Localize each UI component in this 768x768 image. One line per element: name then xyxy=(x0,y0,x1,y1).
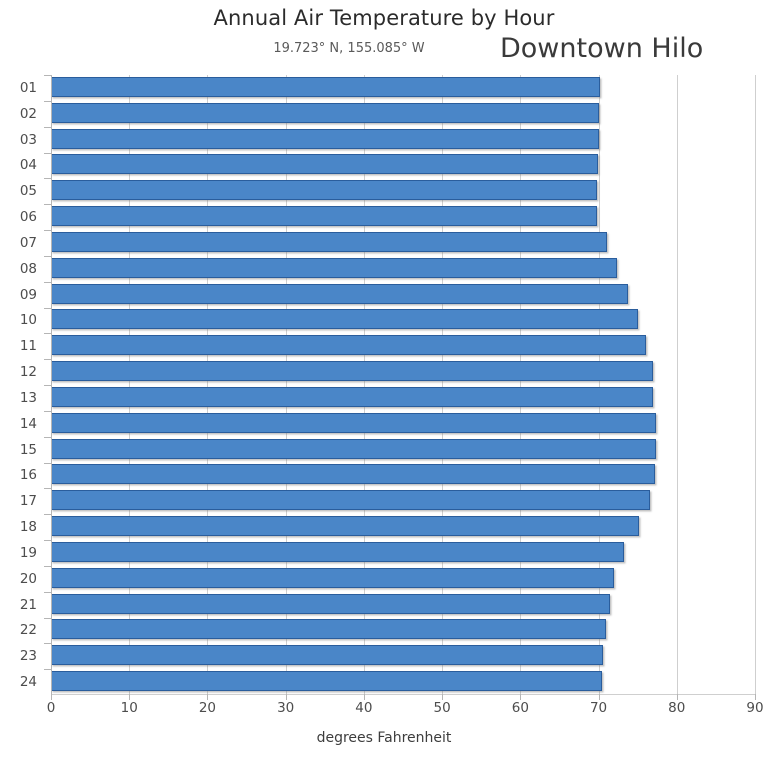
y-tick-15 xyxy=(44,437,51,438)
x-tick-80 xyxy=(677,694,678,700)
x-axis-line xyxy=(51,694,755,695)
bar-08[interactable] xyxy=(51,258,617,278)
x-tick-label-20: 20 xyxy=(199,700,216,716)
y-tick-label-10: 10 xyxy=(20,312,37,328)
y-tick-label-21: 21 xyxy=(20,597,37,613)
bar-row xyxy=(51,437,755,463)
y-tick-18 xyxy=(44,514,51,515)
bar-row xyxy=(51,308,755,334)
y-tick-label-13: 13 xyxy=(20,390,37,406)
bar-row xyxy=(51,592,755,618)
x-tick-90 xyxy=(755,694,756,700)
bar-row xyxy=(51,204,755,230)
y-tick-label-18: 18 xyxy=(20,519,37,535)
y-tick-label-02: 02 xyxy=(20,106,37,122)
bar-19[interactable] xyxy=(51,542,624,562)
y-axis-line xyxy=(51,75,52,695)
x-tick-60 xyxy=(520,694,521,700)
x-tick-30 xyxy=(286,694,287,700)
bar-06[interactable] xyxy=(51,206,597,226)
bar-02[interactable] xyxy=(51,103,599,123)
y-tick-03 xyxy=(44,127,51,128)
x-tick-label-70: 70 xyxy=(590,700,607,716)
bar-22[interactable] xyxy=(51,619,606,639)
x-tick-label-40: 40 xyxy=(355,700,372,716)
bar-row xyxy=(51,178,755,204)
bar-row xyxy=(51,411,755,437)
bar-20[interactable] xyxy=(51,568,614,588)
y-tick-11 xyxy=(44,333,51,334)
bar-row xyxy=(51,282,755,308)
x-axis-title: degrees Fahrenheit xyxy=(0,730,768,746)
bar-04[interactable] xyxy=(51,154,598,174)
chart-page: Annual Air Temperature by Hour 19.723° N… xyxy=(0,0,768,768)
x-tick-50 xyxy=(442,694,443,700)
bar-row xyxy=(51,669,755,695)
bar-09[interactable] xyxy=(51,284,628,304)
page-title: Annual Air Temperature by Hour xyxy=(0,6,768,30)
y-tick-04 xyxy=(44,153,51,154)
bar-14[interactable] xyxy=(51,413,656,433)
y-tick-20 xyxy=(44,566,51,567)
y-tick-label-08: 08 xyxy=(20,261,37,277)
bar-row xyxy=(51,359,755,385)
plot-area xyxy=(51,75,755,695)
bar-row xyxy=(51,488,755,514)
y-tick-14 xyxy=(44,411,51,412)
y-tick-21 xyxy=(44,592,51,593)
bar-row xyxy=(51,463,755,489)
x-tick-40 xyxy=(364,694,365,700)
y-tick-label-16: 16 xyxy=(20,467,37,483)
bar-13[interactable] xyxy=(51,387,653,407)
gridline-90 xyxy=(755,75,756,695)
y-tick-label-14: 14 xyxy=(20,416,37,432)
y-tick-label-17: 17 xyxy=(20,493,37,509)
bar-row xyxy=(51,643,755,669)
bar-row xyxy=(51,566,755,592)
bar-10[interactable] xyxy=(51,309,638,329)
x-tick-10 xyxy=(129,694,130,700)
bar-row xyxy=(51,618,755,644)
y-tick-08 xyxy=(44,256,51,257)
x-tick-0 xyxy=(51,694,52,700)
bar-18[interactable] xyxy=(51,516,639,536)
y-tick-label-19: 19 xyxy=(20,545,37,561)
y-tick-07 xyxy=(44,230,51,231)
x-axis-tick-labels: 0102030405060708090 xyxy=(0,700,768,724)
bar-16[interactable] xyxy=(51,464,655,484)
y-tick-22 xyxy=(44,618,51,619)
y-tick-06 xyxy=(44,204,51,205)
bar-row xyxy=(51,514,755,540)
bar-07[interactable] xyxy=(51,232,607,252)
bar-row xyxy=(51,540,755,566)
y-tick-label-05: 05 xyxy=(20,183,37,199)
y-tick-23 xyxy=(44,643,51,644)
x-tick-label-90: 90 xyxy=(746,700,763,716)
x-tick-20 xyxy=(207,694,208,700)
y-tick-label-07: 07 xyxy=(20,235,37,251)
bar-12[interactable] xyxy=(51,361,653,381)
bar-17[interactable] xyxy=(51,490,650,510)
bar-row xyxy=(51,256,755,282)
bar-row xyxy=(51,75,755,101)
station-name-annotation: Downtown Hilo xyxy=(500,33,703,64)
y-tick-01 xyxy=(44,75,51,76)
bar-row xyxy=(51,127,755,153)
y-tick-label-24: 24 xyxy=(20,674,37,690)
bar-23[interactable] xyxy=(51,645,603,665)
bar-01[interactable] xyxy=(51,77,600,97)
bar-03[interactable] xyxy=(51,129,599,149)
y-tick-label-03: 03 xyxy=(20,132,37,148)
x-tick-70 xyxy=(599,694,600,700)
y-tick-label-11: 11 xyxy=(20,338,37,354)
bar-24[interactable] xyxy=(51,671,602,691)
x-tick-label-0: 0 xyxy=(47,700,56,716)
bar-row xyxy=(51,101,755,127)
y-axis-tick-labels: 0102030405060708091011121314151617181920… xyxy=(0,75,51,695)
y-tick-label-09: 09 xyxy=(20,287,37,303)
x-tick-label-30: 30 xyxy=(277,700,294,716)
y-tick-17 xyxy=(44,488,51,489)
y-tick-label-12: 12 xyxy=(20,364,37,380)
y-tick-12 xyxy=(44,359,51,360)
y-tick-label-01: 01 xyxy=(20,80,37,96)
y-tick-09 xyxy=(44,282,51,283)
y-tick-label-22: 22 xyxy=(20,622,37,638)
x-tick-label-80: 80 xyxy=(668,700,685,716)
y-tick-13 xyxy=(44,385,51,386)
x-tick-label-60: 60 xyxy=(512,700,529,716)
bar-row xyxy=(51,230,755,256)
x-tick-label-10: 10 xyxy=(121,700,138,716)
bar-row xyxy=(51,385,755,411)
bar-15[interactable] xyxy=(51,439,656,459)
bar-11[interactable] xyxy=(51,335,646,355)
bar-21[interactable] xyxy=(51,594,610,614)
y-tick-label-04: 04 xyxy=(20,157,37,173)
bar-row xyxy=(51,153,755,179)
y-tick-label-06: 06 xyxy=(20,209,37,225)
y-tick-02 xyxy=(44,101,51,102)
y-tick-16 xyxy=(44,463,51,464)
y-tick-10 xyxy=(44,308,51,309)
y-tick-24 xyxy=(44,669,51,670)
y-tick-label-15: 15 xyxy=(20,442,37,458)
bar-series xyxy=(51,75,755,695)
bar-05[interactable] xyxy=(51,180,597,200)
y-tick-19 xyxy=(44,540,51,541)
x-tick-label-50: 50 xyxy=(434,700,451,716)
y-tick-05 xyxy=(44,178,51,179)
y-tick-label-20: 20 xyxy=(20,571,37,587)
bar-row xyxy=(51,333,755,359)
y-tick-label-23: 23 xyxy=(20,648,37,664)
